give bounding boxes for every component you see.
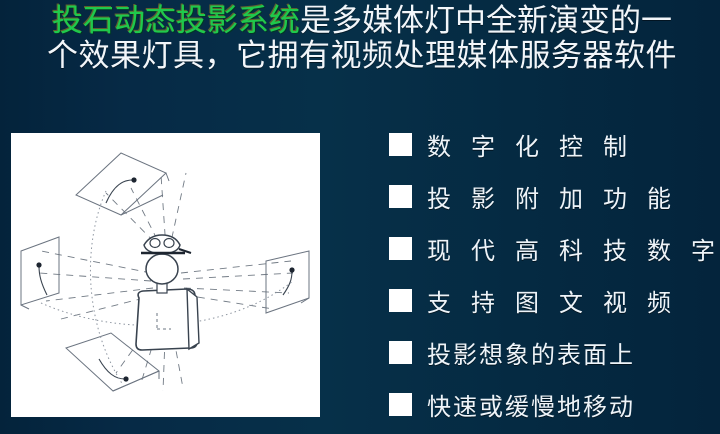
slide-heading: 投石动态投影系统是多媒体灯中全新演变的一 个效果灯具，它拥有视频处理媒体服务器软… xyxy=(22,4,702,73)
list-item[interactable]: 快速或缓慢地移动 xyxy=(389,378,709,430)
square-bullet-icon xyxy=(389,393,412,416)
list-item-label: 支 持 图 文 视 频 xyxy=(427,283,678,318)
projector-fixture xyxy=(136,235,199,350)
square-bullet-icon xyxy=(389,289,412,312)
list-item-label: 现 代 高 科 技 数 字 镜 xyxy=(427,231,720,266)
list-item-label: 投 影 附 加 功 能 xyxy=(427,179,678,214)
list-item-label: 快速或缓慢地移动 xyxy=(427,387,635,422)
heading-line-2: 个效果灯具，它拥有视频处理媒体服务器软件 xyxy=(22,39,702,74)
list-item[interactable]: 现 代 高 科 技 数 字 镜 xyxy=(389,222,709,274)
square-bullet-icon xyxy=(389,133,412,156)
heading-highlight: 投石动态投影系统 xyxy=(52,3,300,38)
square-bullet-icon xyxy=(389,185,412,208)
square-bullet-icon xyxy=(389,341,412,364)
presentation-slide: 投石动态投影系统是多媒体灯中全新演变的一 个效果灯具，它拥有视频处理媒体服务器软… xyxy=(0,0,720,434)
list-item[interactable]: 数 字 化 控 制 xyxy=(389,118,709,170)
list-item[interactable]: 投 影 附 加 功 能 xyxy=(389,170,709,222)
square-bullet-icon xyxy=(389,237,412,260)
list-item[interactable]: 支 持 图 文 视 频 xyxy=(389,274,709,326)
heading-line-1: 投石动态投影系统是多媒体灯中全新演变的一 xyxy=(22,4,702,39)
list-item-label: 投影想象的表面上 xyxy=(427,335,635,370)
list-item[interactable]: 投影想象的表面上 xyxy=(389,326,709,378)
projector-diagram-svg xyxy=(11,133,320,417)
projector-diagram-image xyxy=(11,133,320,417)
feature-bullet-list: 数 字 化 控 制 投 影 附 加 功 能 现 代 高 科 技 数 字 镜 支 … xyxy=(389,118,709,430)
list-item-label: 数 字 化 控 制 xyxy=(427,127,634,162)
heading-line-1-rest: 是多媒体灯中全新演变的一 xyxy=(300,3,672,38)
